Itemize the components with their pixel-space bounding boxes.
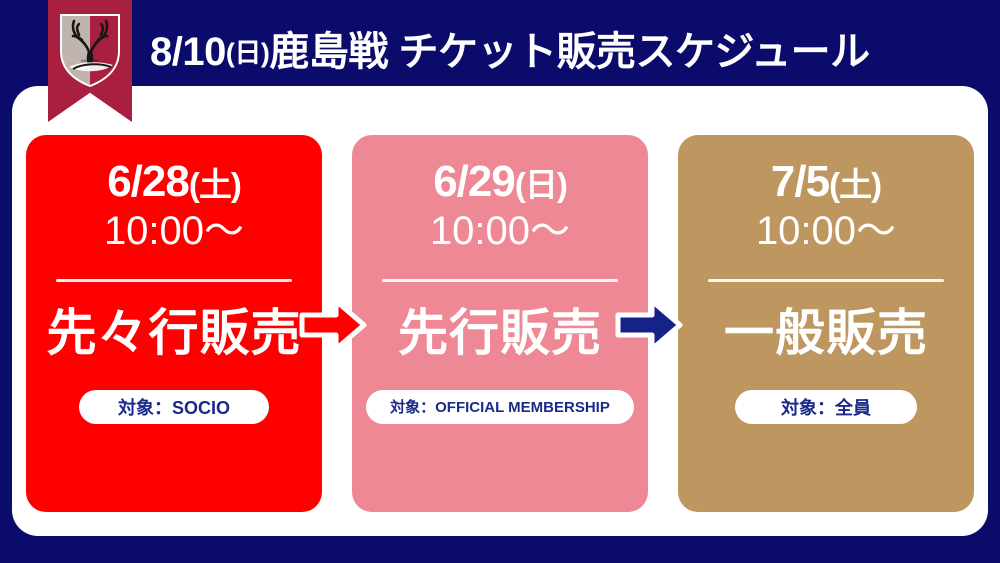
card-sale-name: 一般販売	[724, 308, 928, 358]
svg-text:KASHIMA: KASHIMA	[81, 58, 99, 63]
card-time: 10:00～	[430, 209, 570, 253]
card-saki-sakigyo[interactable]: 6/28(土) 10:00～ 先々行販売 対象：SOCIO	[26, 135, 322, 512]
card-sale-name: 先行販売	[398, 308, 602, 358]
card-day-of-week: (土)	[829, 166, 881, 203]
card-ippan[interactable]: 7/5(土) 10:00～ 一般販売 対象：全員	[678, 135, 974, 512]
card-time: 10:00～	[756, 209, 896, 253]
page-title-dow: (日)	[226, 40, 269, 67]
card-date: 7/5(土)	[771, 159, 881, 205]
card-date: 6/28(土)	[107, 159, 241, 205]
kashima-antlers-crest-icon: KASHIMA	[55, 9, 125, 89]
card-divider	[382, 279, 618, 282]
card-target-badge: 対象：全員	[735, 390, 917, 424]
card-target-badge: 対象：SOCIO	[79, 390, 269, 424]
card-date: 6/29(日)	[433, 159, 567, 205]
card-sakigyo[interactable]: 6/29(日) 10:00～ 先行販売 対象：OFFICIAL MEMBERSH…	[352, 135, 648, 512]
card-divider	[708, 279, 944, 282]
arrow-right-icon-2	[614, 297, 684, 353]
card-day-of-week: (土)	[189, 166, 241, 203]
page-title-date: 8/10	[150, 32, 226, 72]
schedule-cards-container: 6/28(土) 10:00～ 先々行販売 対象：SOCIO 6/29(日) 10…	[12, 86, 988, 536]
card-time: 10:00～	[104, 209, 244, 253]
page-title-rest: 鹿島戦 チケット販売スケジュール	[269, 32, 869, 72]
ticket-sales-schedule-graphic: 8/10(日)鹿島戦 チケット販売スケジュール KASHIMA 6/28(土) …	[0, 0, 1000, 563]
card-day-of-week: (日)	[515, 166, 567, 203]
card-target-badge: 対象：OFFICIAL MEMBERSHIP	[366, 390, 634, 424]
card-divider	[56, 279, 292, 282]
card-sale-name: 先々行販売	[47, 308, 302, 358]
page-title: 8/10(日)鹿島戦 チケット販売スケジュール	[150, 16, 980, 88]
arrow-right-icon-1	[298, 297, 368, 353]
